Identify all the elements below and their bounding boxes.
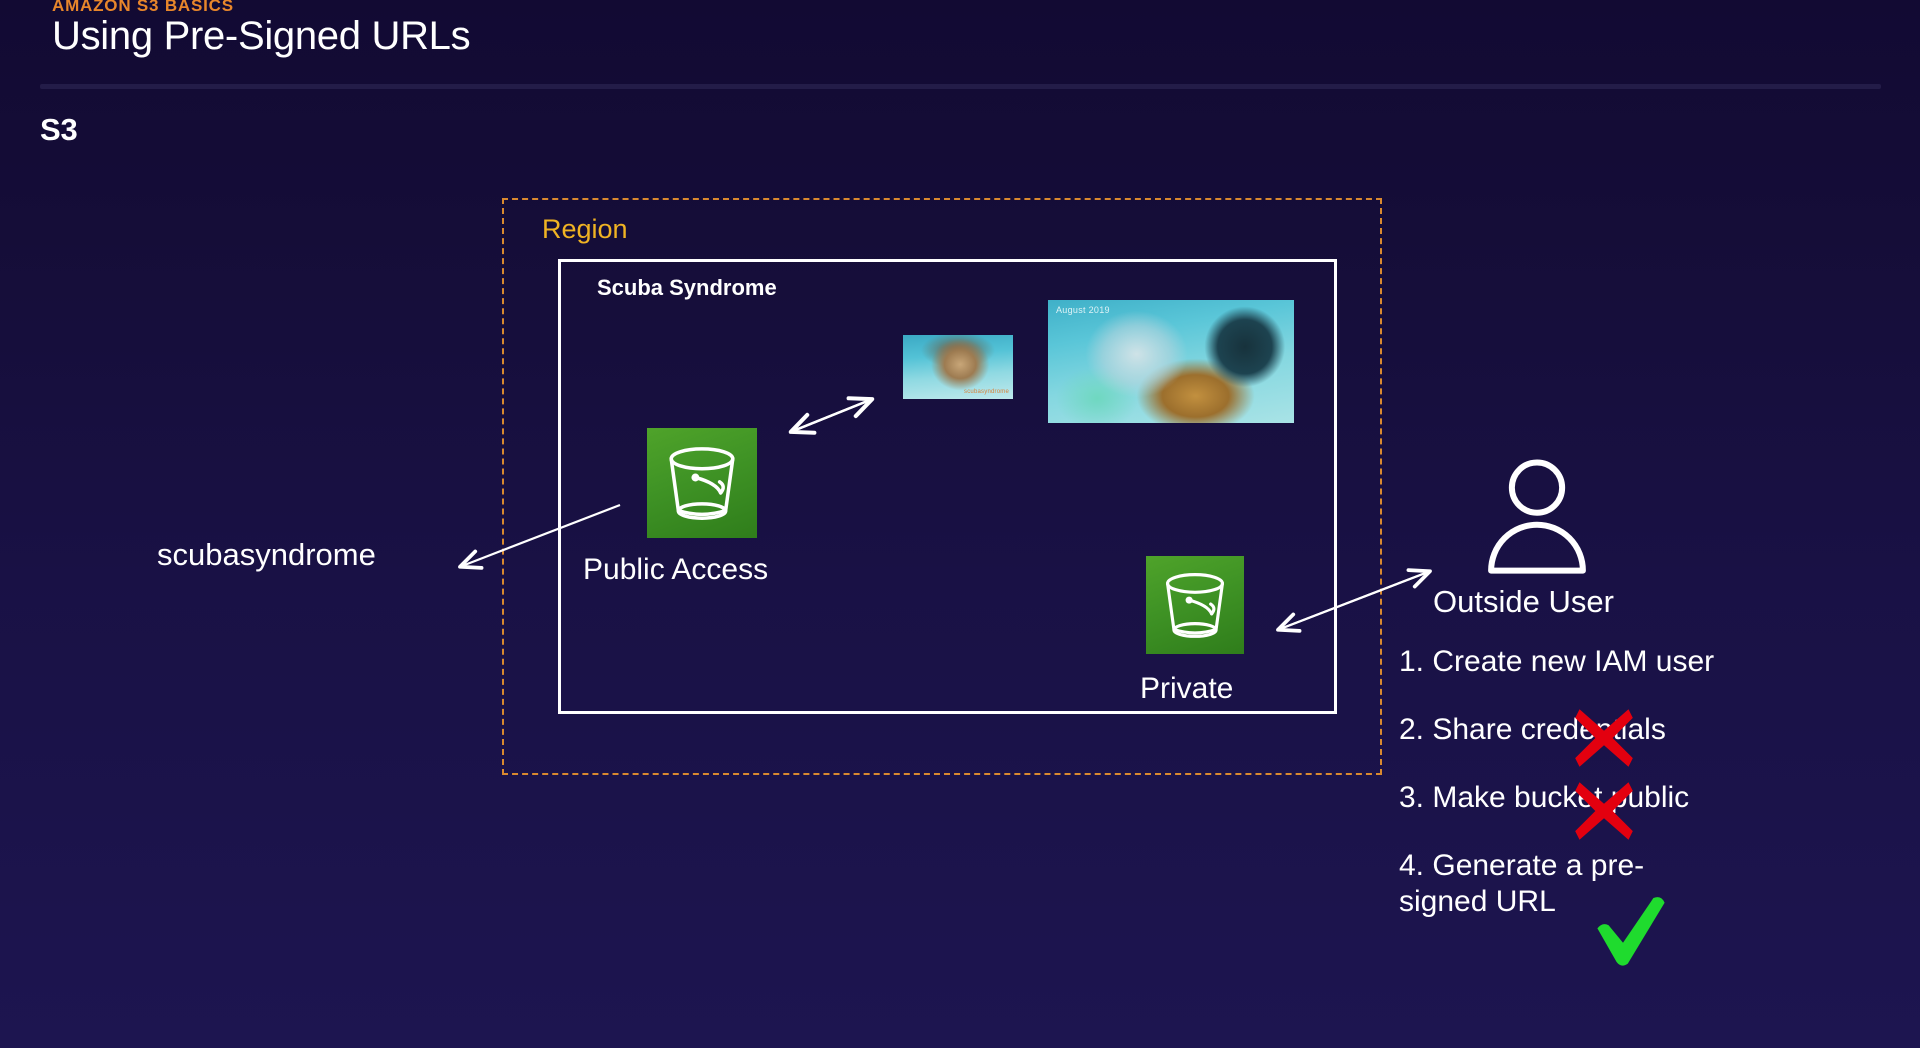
- header-divider: [40, 84, 1881, 89]
- bucket-caption-private: Private: [1140, 672, 1233, 706]
- slide-header: AMAZON S3 BASICS Using Pre-Signed URLs: [0, 0, 1920, 96]
- bucket-container-label: Scuba Syndrome: [597, 275, 777, 301]
- underwater-child-photo: scubasyndrome: [903, 335, 1013, 399]
- s3-bucket-icon-private[interactable]: [1146, 556, 1244, 654]
- section-label: S3: [40, 112, 78, 148]
- steps-list: 1. Create new IAM user 2. Share credenti…: [1399, 644, 1869, 920]
- bucket-caption-public: Public Access: [583, 553, 768, 587]
- step-item-3: 3. Make bucket public: [1399, 780, 1869, 816]
- step-item-1: 1. Create new IAM user: [1399, 644, 1869, 680]
- photo-watermark: scubasyndrome: [964, 389, 1009, 395]
- step-item-2: 2. Share credentials: [1399, 712, 1869, 748]
- photo-date-caption: August 2019: [1056, 305, 1110, 315]
- underwater-snorkelers-photo: August 2019: [1048, 300, 1294, 423]
- bucket-name-label: scubasyndrome: [157, 537, 376, 573]
- step-item-4: 4. Generate a pre- signed URL: [1399, 848, 1869, 920]
- person-icon: [1482, 457, 1592, 575]
- outside-user-label: Outside User: [1433, 584, 1614, 620]
- s3-bucket-icon-public[interactable]: [647, 428, 757, 538]
- slide-title: Using Pre-Signed URLs: [52, 14, 470, 59]
- region-label: Region: [542, 214, 628, 245]
